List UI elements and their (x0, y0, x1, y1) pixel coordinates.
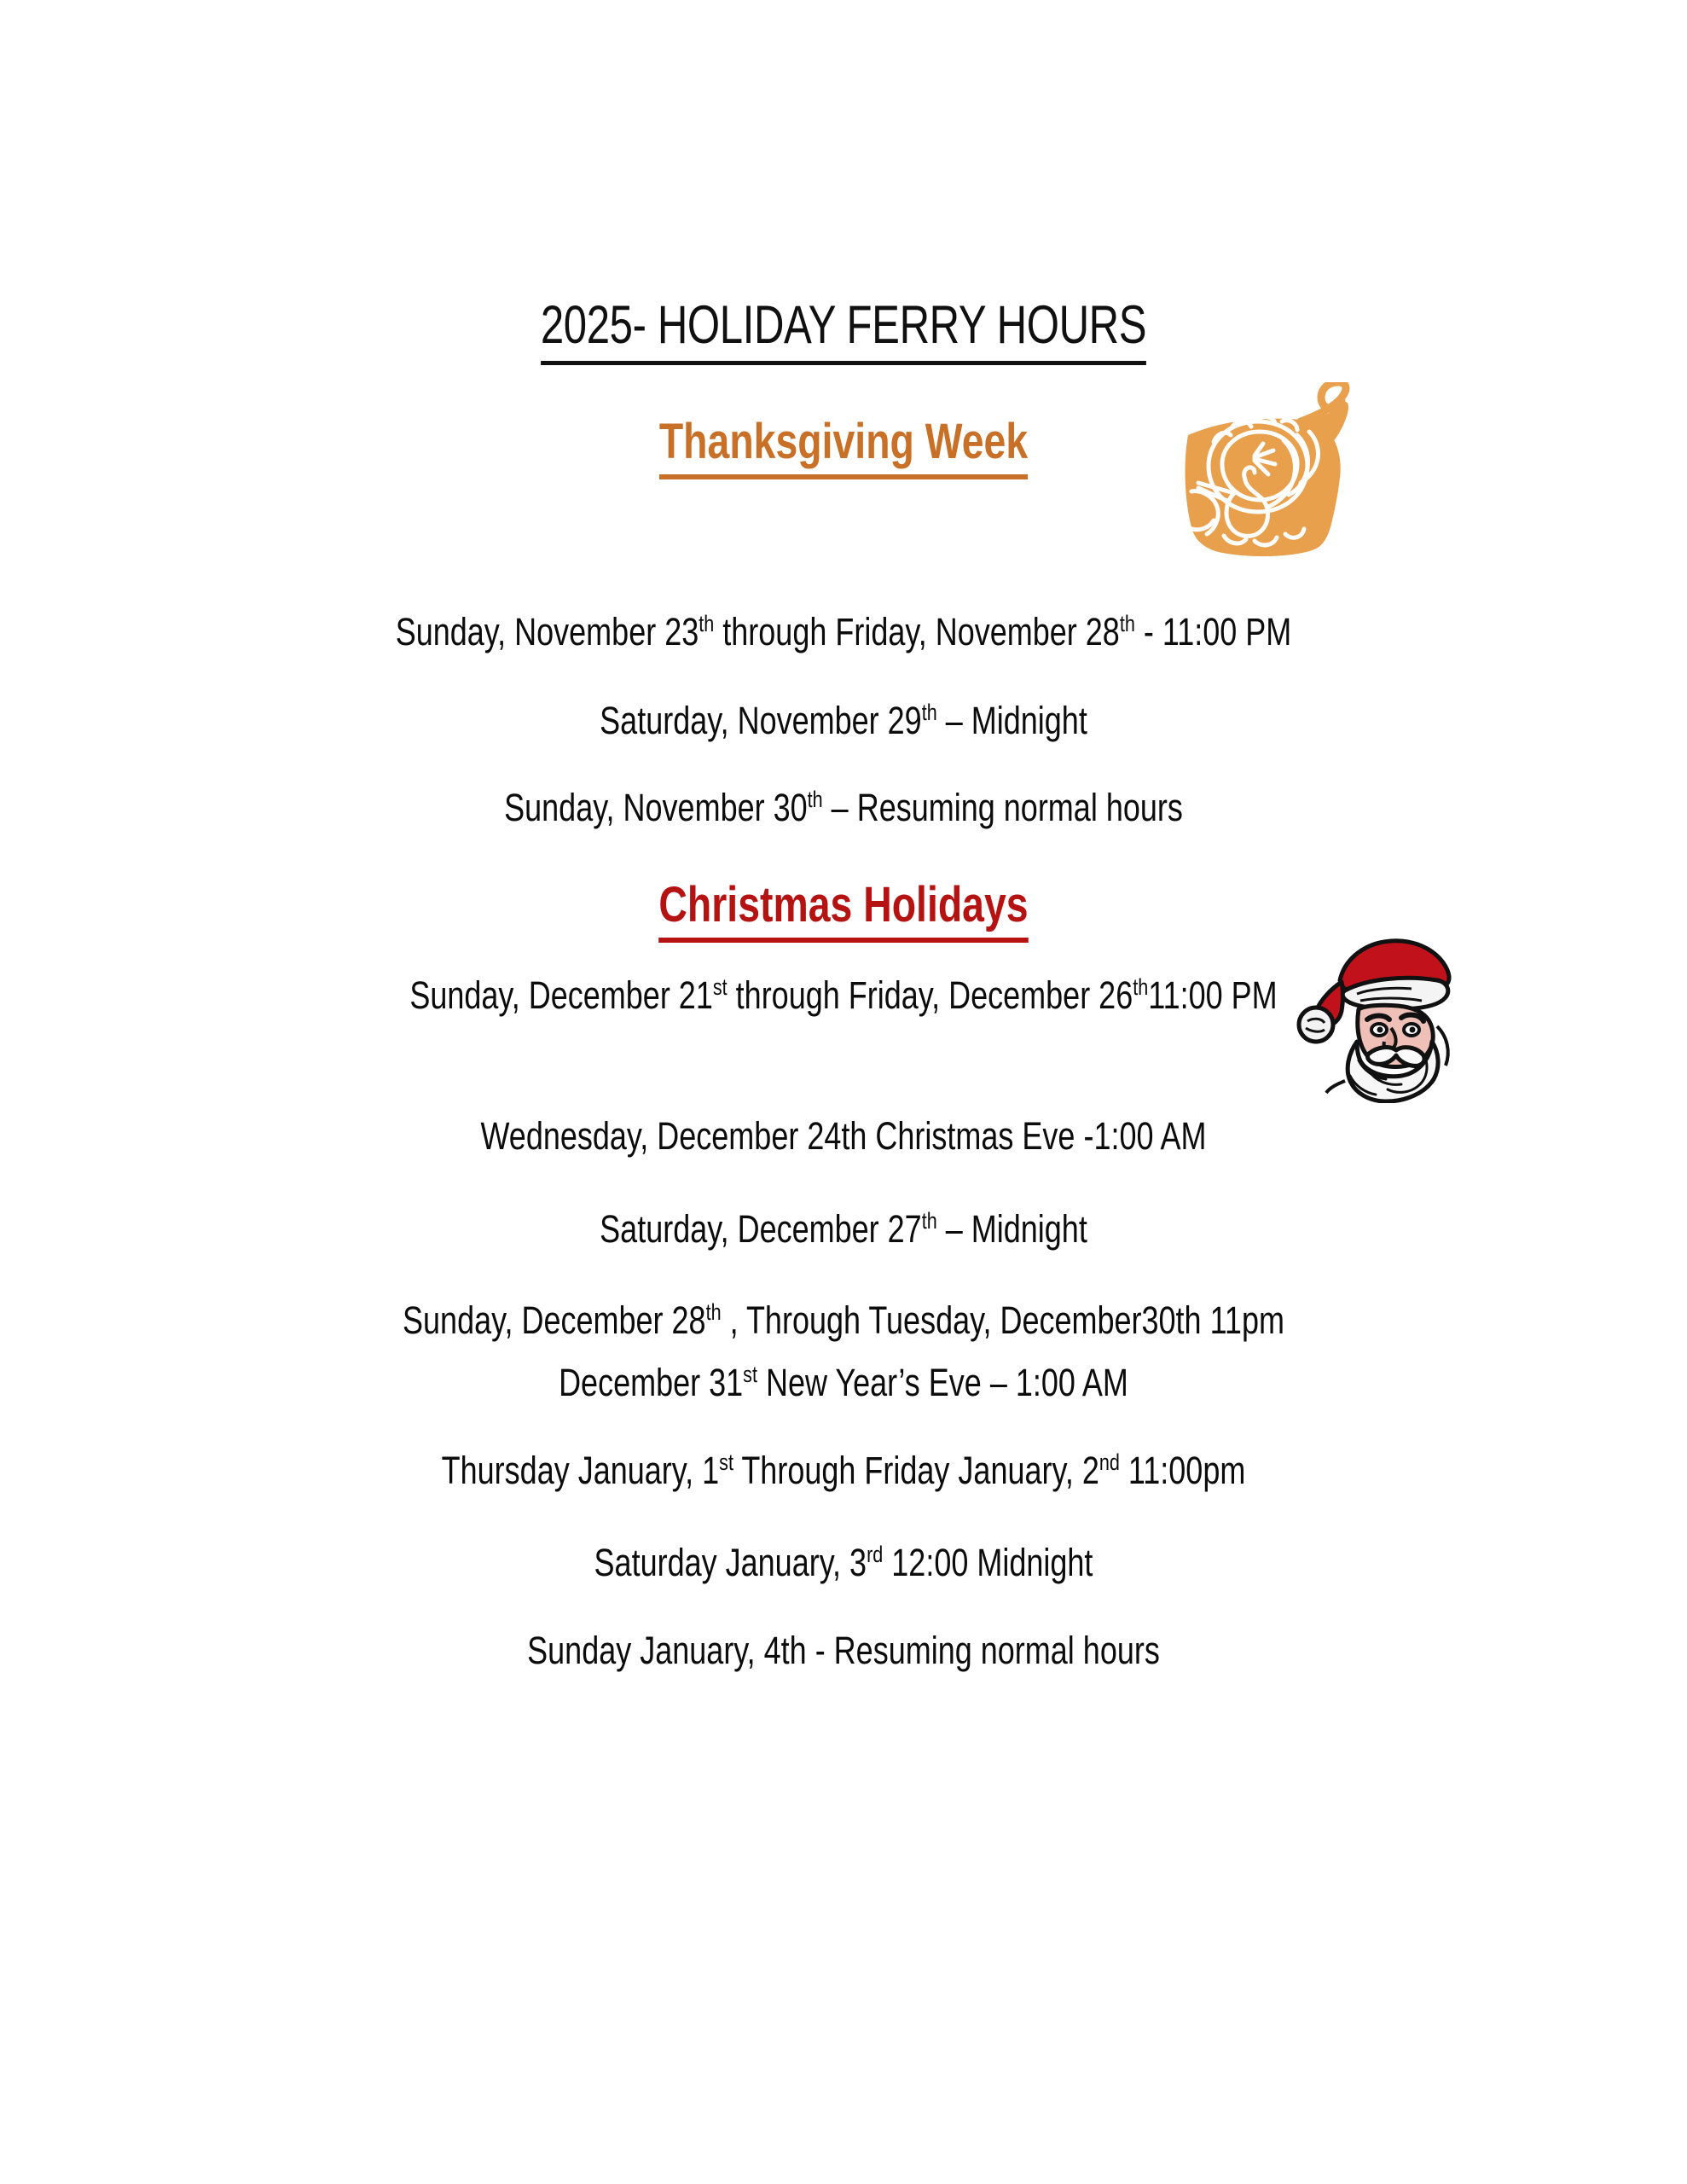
ordinal-suffix: th (808, 787, 823, 812)
line-part: through Friday, November 28 (714, 610, 1120, 653)
ordinal-suffix: st (719, 1449, 733, 1475)
line-part: – Midnight (937, 699, 1087, 742)
ordinal-suffix: th (1120, 611, 1135, 636)
line-part: through Friday, December 26 (728, 973, 1133, 1017)
schedule-line: Wednesday, December 24th Christmas Eve -… (169, 1113, 1518, 1159)
ordinal-suffix: rd (867, 1542, 883, 1567)
schedule-line: Sunday, November 23th through Friday, No… (169, 609, 1518, 654)
line-part: – Midnight (937, 1207, 1087, 1251)
ordinal-suffix: nd (1099, 1449, 1120, 1475)
line-part: - 11:00 PM (1135, 610, 1291, 653)
ordinal-suffix: th (1133, 974, 1148, 1000)
ordinal-suffix: th (699, 611, 714, 636)
schedule-line: Saturday, December 27th – Midnight (169, 1206, 1518, 1252)
line-part: 11:00 PM (1148, 973, 1277, 1017)
line-part: Sunday, December 21 (409, 973, 713, 1017)
line-part: Sunday, December 28 (403, 1298, 706, 1342)
line-part: Wednesday, December 24th Christmas Eve -… (480, 1114, 1206, 1158)
schedule-line: Thursday January, 1st Through Friday Jan… (169, 1448, 1518, 1493)
schedule-line: Saturday, November 29th – Midnight (169, 698, 1518, 743)
schedule-line: Sunday, December 28th , Through Tuesday,… (169, 1298, 1518, 1343)
line-part: Sunday, November 23 (396, 610, 699, 653)
schedule-line: Sunday January, 4th - Resuming normal ho… (169, 1628, 1518, 1673)
line-part: – Resuming normal hours (823, 786, 1183, 829)
line-part: Through Friday January, 2 (733, 1449, 1099, 1492)
line-part: December 31 (559, 1361, 743, 1404)
schedule-line: Sunday, November 30th – Resuming normal … (169, 785, 1518, 830)
line-part: 12:00 Midnight (883, 1541, 1093, 1584)
ordinal-suffix: st (713, 974, 728, 1000)
page-title: 2025- HOLIDAY FERRY HOURS (186, 297, 1502, 353)
schedule-line: Sunday, December 21st through Friday, De… (318, 973, 1369, 1018)
ordinal-suffix: th (922, 700, 937, 725)
schedule-line: December 31st New Year’s Eve – 1:00 AM (169, 1360, 1518, 1405)
line-part: Thursday January, 1 (442, 1449, 720, 1492)
line-part: , Through Tuesday, December30th 11pm (722, 1298, 1284, 1342)
cornucopia-icon (1173, 382, 1377, 561)
line-part: Saturday January, 3 (594, 1541, 867, 1584)
line-part: 11:00pm (1120, 1449, 1245, 1492)
ordinal-suffix: st (743, 1362, 757, 1387)
section-heading-christmas: Christmas Holidays (169, 880, 1518, 932)
line-part: Sunday, November 30 (504, 786, 808, 829)
section-heading-christmas-text: Christmas Holidays (658, 877, 1028, 943)
ordinal-suffix: th (922, 1208, 937, 1234)
schedule-line: Saturday January, 3rd 12:00 Midnight (169, 1540, 1518, 1585)
line-part: New Year’s Eve – 1:00 AM (757, 1361, 1128, 1404)
page-title-text: 2025- HOLIDAY FERRY HOURS (541, 295, 1146, 365)
ordinal-suffix: th (706, 1299, 722, 1325)
section-heading-thanksgiving-text: Thanksgiving Week (659, 414, 1028, 479)
line-part: Sunday January, 4th - Resuming normal ho… (527, 1629, 1160, 1672)
document-page: 2025- HOLIDAY FERRY HOURS Thanksgiving W… (0, 0, 1687, 2184)
line-part: Saturday, November 29 (600, 699, 922, 742)
line-part: Saturday, December 27 (600, 1207, 922, 1251)
